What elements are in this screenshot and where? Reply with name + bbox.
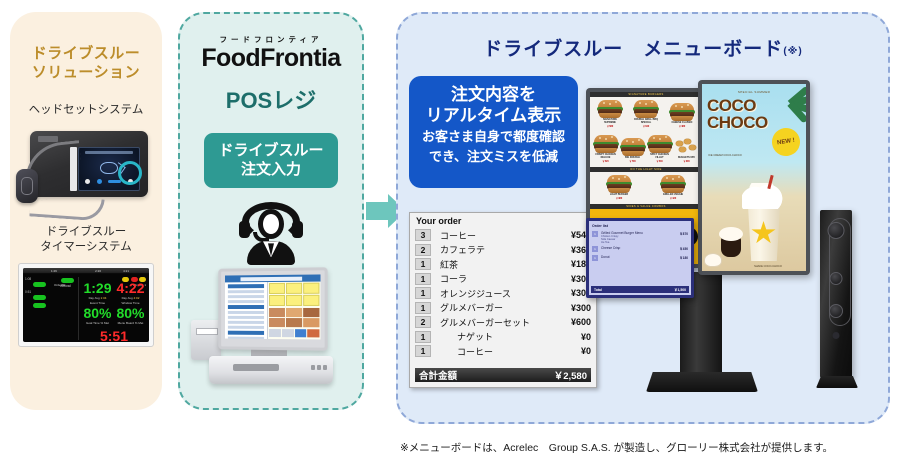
pos-line <box>228 300 264 303</box>
poster-title-line2: CHOCO <box>707 114 768 131</box>
menu-board-title-text: ドライブスルー メニューボード <box>483 39 783 60</box>
speaker-driver-bottom <box>829 304 843 318</box>
pos-food-thumb <box>269 318 285 327</box>
dt-button-line2: 注文入力 <box>204 160 338 179</box>
ice-cream-cup <box>718 227 744 257</box>
pos-line <box>228 295 264 298</box>
burger-icon <box>669 103 695 120</box>
nuggets-icon <box>674 138 698 155</box>
poster-label-right: SHAKE COCO-CHOCO <box>748 265 788 268</box>
pos-line <box>228 331 264 335</box>
headset-system-image <box>16 125 156 213</box>
poster-title-line1: COCO <box>707 97 756 114</box>
burger-icon <box>597 100 623 117</box>
dt-button-line1: ドライブスルー <box>204 141 338 160</box>
screen-dot <box>85 179 90 184</box>
pos-food-thumb <box>269 308 285 317</box>
pos-line <box>228 311 264 314</box>
order-row: 2 グルメバーガーセット ¥600 <box>415 315 591 330</box>
pos-key <box>286 283 302 294</box>
order-screen-content: Order list 1 Grilled Gourmet Burger Menu… <box>589 221 691 295</box>
pos-base-buttons <box>311 365 327 370</box>
screen-dot-active <box>97 179 102 184</box>
order-screen-row: 1 Grilled Gourmet Burger Menu Chicken Cr… <box>592 231 688 244</box>
pos-order-pane <box>225 282 268 339</box>
menu-row-2: CRISPY CHICKEN DELUXE ￥520 BIG DOUBLE ￥7… <box>590 132 702 167</box>
order-qty: 1 <box>415 273 431 285</box>
timer-value: 80% <box>114 306 147 320</box>
menu-item: BIG DOUBLE ￥700 <box>620 138 646 163</box>
pos-card-slot <box>233 364 279 371</box>
pos-action-buttons <box>268 328 320 338</box>
pos-action <box>307 330 319 338</box>
order-screen-title: Order list <box>592 224 688 228</box>
timer-cell: 4:22 Day Avg 4:02 Window Time <box>114 281 147 305</box>
pos-key <box>269 283 285 294</box>
order-screen-name-block: Cheese Crisp <box>598 246 679 250</box>
lane-pill <box>33 295 46 300</box>
timer-caption: Menu Board % Met <box>114 321 147 325</box>
order-screen-total: Total ￥1,500 <box>591 286 689 293</box>
timer-top-stat-left: 1:29 <box>51 269 57 273</box>
ice-cream-whip <box>719 227 743 241</box>
menu-item: GRILLED VEGGIE ￥420 <box>660 175 686 200</box>
order-screen-row: 1 Donut ￥180 <box>592 255 688 261</box>
poster-eyebrow: SPECIAL SUMMER <box>702 90 806 94</box>
order-row: 1 オレンジジュース ¥300 <box>415 286 591 301</box>
timer-arrival-column: Arrival <box>53 277 79 340</box>
timer-cell: 80% Menu Board % Met <box>114 306 147 325</box>
menu-item: DOUBLE GRILL BBQ SPECIAL ￥640 <box>633 100 659 128</box>
diagram-canvas: ドライブスルー ソリューション ヘッドセットシステム <box>0 0 900 474</box>
menu-row-3: LIGHT BURGER ￥380 GRILLED VEGGIE ￥420 <box>590 172 702 204</box>
headset-icon <box>100 162 118 174</box>
pos-menu-keys <box>268 282 320 307</box>
menu-board-footnote: ※メニューボードは、Acrelec Group S.A.S. が製造し、グローリ… <box>400 440 890 455</box>
pos-screen-content <box>225 275 320 340</box>
timer-caption: Goal Time % Met <box>81 321 114 325</box>
order-screen-price: ￥870 <box>679 231 688 236</box>
burger-icon <box>647 135 673 152</box>
pos-register-title: POSレジ <box>180 83 362 115</box>
timer-top-stat-right: 2:20 <box>95 269 101 273</box>
drive-thru-order-entry-button[interactable]: ドライブスルー 注文入力 <box>204 133 338 188</box>
timer-value: 5:51 <box>81 329 147 342</box>
order-screen-name-block: Grilled Gourmet Burger Menu Chicken Cris… <box>598 231 679 244</box>
poster-label-left: ICE CREAM COCO-CHOCO <box>708 154 742 157</box>
order-name: ナゲット <box>431 330 581 343</box>
pos-receipt-printer <box>191 320 221 360</box>
screen-slider <box>108 180 121 183</box>
timer-subtext: Day Avg 1:34 <box>81 296 114 300</box>
your-order-header: Your order <box>410 213 596 228</box>
pos-base-button <box>317 365 321 370</box>
order-name: グルメバーガー <box>431 301 571 314</box>
burger-icon <box>633 100 659 117</box>
menu-board-pedestal-base <box>646 372 758 392</box>
timer-left-column: 1:08 0:51 <box>25 277 51 340</box>
pos-line <box>228 284 264 288</box>
callout-line4: でき、注文ミスを低減 <box>409 149 578 165</box>
order-screen-option: Ice Tea <box>601 241 679 244</box>
realtime-display-callout: 注文内容を リアルタイム表示 お客さま自身で都度確認 でき、注文ミスを低減 <box>409 76 578 188</box>
order-row: 1 コーラ ¥300 <box>415 272 591 287</box>
menu-item: SIGNATURE SUPREME ￥580 <box>597 100 623 128</box>
menu-item-price: ￥420 <box>660 196 686 200</box>
pos-key <box>303 283 319 294</box>
menu-board-screen-right: SPECIAL SUMMER COCO CHOCO NEW ! ICE CREA… <box>698 80 810 275</box>
menu-item-price: ￥640 <box>633 124 659 128</box>
solution-title-line1: ドライブスルー <box>10 45 162 64</box>
speaker-base-foot <box>816 376 858 388</box>
poster-new-badge: NEW ! <box>770 126 802 158</box>
order-row: 1 グルメバーガー ¥300 <box>415 301 591 316</box>
burger-icon <box>660 175 686 192</box>
menu-board-order-screen: Order list 1 Grilled Gourmet Burger Menu… <box>586 218 694 298</box>
order-screen-name-block: Donut <box>598 255 679 259</box>
order-row-suboption: 1 コーヒー ¥0 <box>415 344 591 359</box>
order-qty: 1 <box>415 258 431 270</box>
pos-terminal-image <box>191 268 351 388</box>
timer-arrival-label: Arrival <box>53 284 78 288</box>
menu-board-title-mark: (※) <box>783 46 802 57</box>
speaker-indicator-led <box>833 332 840 339</box>
pos-line <box>228 316 264 319</box>
solution-panel-title: ドライブスルー ソリューション <box>10 12 162 83</box>
speaker-driver-top <box>828 222 845 239</box>
order-qty: 1 <box>415 287 431 299</box>
pos-base-button <box>323 365 327 370</box>
order-name: コーラ <box>431 272 571 285</box>
pos-key <box>286 295 302 306</box>
order-row: 1 紅茶 ¥180 <box>415 257 591 272</box>
pos-food-thumb <box>303 308 319 317</box>
timer-titlebar <box>23 268 149 274</box>
pos-key <box>303 295 319 306</box>
pos-base-button <box>311 365 315 370</box>
menu-item: SPICY CHICKEN FILLET ￥540 <box>647 135 673 163</box>
order-name: カフェラテ <box>431 243 571 256</box>
timer-left-label: 0:51 <box>25 290 51 294</box>
base-station-brand-tag <box>38 136 58 142</box>
timer-label-line1: ドライブスルー <box>10 225 162 240</box>
timer-value: 4:22 <box>114 281 147 295</box>
menu-item: CHEESE CLASSIC ￥480 <box>669 103 695 128</box>
order-qty: 2 <box>415 316 431 328</box>
timer-value: 1:29 <box>81 281 114 295</box>
callout-line3: お客さま自身で都度確認 <box>409 129 578 145</box>
burger-icon <box>620 138 646 155</box>
timer-left-label: 1:08 <box>25 277 51 281</box>
timer-cell: 80% Goal Time % Met <box>81 306 114 325</box>
headset-mic-boom <box>29 195 104 222</box>
drive-thru-speaker-pillar <box>816 210 858 394</box>
burger-icon <box>593 135 619 152</box>
order-screen-row: 1 Cheese Crisp ￥450 <box>592 246 688 252</box>
shake-whipped-cream <box>742 183 786 209</box>
order-name: コーヒー <box>431 229 571 242</box>
order-screen-name: Donut <box>601 255 610 259</box>
panel-menu-board: ドライブスルー メニューボード(※) 注文内容を リアルタイム表示 お客さま自身… <box>396 12 890 424</box>
order-name: グルメバーガーセット <box>431 316 571 329</box>
pos-key <box>269 295 285 306</box>
menu-item-price: ￥480 <box>669 124 695 128</box>
burger-icon <box>606 175 632 192</box>
timer-screen: 1:29 2:20 4:21 Window 1 Order#5 1:08 0:5… <box>23 268 149 342</box>
menu-item: NUGGETS 6PC ￥300 <box>674 138 700 163</box>
operator-earcup-left <box>239 221 250 238</box>
order-row: 3 コーヒー ¥540 <box>415 228 591 243</box>
menu-item: LIGHT BURGER ￥380 <box>606 175 632 200</box>
order-row: 2 カフェラテ ¥360 <box>415 243 591 258</box>
timer-system-image: 1:29 2:20 4:21 Window 1 Order#5 1:08 0:5… <box>18 263 154 347</box>
order-qty: 2 <box>415 244 431 256</box>
pos-food-thumb <box>303 318 319 327</box>
lane-pill <box>33 282 46 287</box>
order-screen-name: Grilled Gourmet Burger Menu <box>601 231 643 235</box>
menu-item-price: ￥700 <box>620 159 646 163</box>
order-qty: 1 <box>415 345 431 357</box>
pos-action <box>295 330 307 338</box>
order-qty: 3 <box>415 229 431 241</box>
operator-avatar-icon <box>239 202 303 264</box>
order-screen-name: Cheese Crisp <box>601 246 620 250</box>
order-total-value: ￥2,580 <box>554 368 587 382</box>
timer-system-label: ドライブスルー タイマーシステム <box>10 225 162 255</box>
order-name: 紅茶 <box>431 258 571 271</box>
order-screen-price: ￥180 <box>679 255 688 260</box>
timer-cell: 5:51 Day Avg 5:22 Total Service Time <box>81 329 147 342</box>
operator-earcup-right <box>292 221 303 238</box>
timer-value: 80% <box>81 306 114 320</box>
pos-line <box>228 321 264 324</box>
your-order-list: 3 コーヒー ¥540 2 カフェラテ ¥360 1 紅茶 ¥180 1 コーラ <box>410 228 596 359</box>
menu-item-price: ￥520 <box>593 159 619 163</box>
speaker-driver-mid <box>830 272 843 285</box>
order-screen-total-label: Total <box>594 288 602 292</box>
timer-cell: 1:29 Day Avg 1:34 Event Time <box>81 281 114 305</box>
menu-item-price: ￥580 <box>597 124 623 128</box>
pos-food-thumbnails <box>268 307 320 328</box>
order-screen-total-value: ￥1,500 <box>674 287 686 292</box>
timer-subtext: Day Avg 4:02 <box>114 296 147 300</box>
pos-line <box>228 305 264 309</box>
menu-item: CRISPY CHICKEN DELUXE ￥520 <box>593 135 619 163</box>
pos-app-titlebar <box>225 275 320 283</box>
pos-line <box>228 326 264 329</box>
timer-label-line2: タイマーシステム <box>10 240 162 255</box>
order-name: オレンジジュース <box>431 287 571 300</box>
menu-row-1: SIGNATURE SUPREME ￥580 DOUBLE GRILL BBQ … <box>590 97 702 132</box>
pos-touchscreen <box>218 268 327 352</box>
order-qty: 1 <box>415 302 431 314</box>
menu-item-price: ￥380 <box>606 196 632 200</box>
headset-system-label: ヘッドセットシステム <box>10 103 162 118</box>
pos-action <box>282 329 294 337</box>
pos-food-thumb <box>286 308 302 317</box>
menu-item-price: ￥540 <box>647 159 673 163</box>
callout-line1: 注文内容を <box>409 85 578 106</box>
order-total-label: 合計金額 <box>419 368 457 382</box>
foodfrontia-logo: FoodFrontia <box>180 46 362 71</box>
panel-pos-register: フードフロンティア FoodFrontia POSレジ ドライブスルー 注文入力 <box>178 12 364 410</box>
pos-food-thumb <box>286 318 302 327</box>
menu-board-title: ドライブスルー メニューボード(※) <box>398 34 888 61</box>
panel-drive-thru-solution: ドライブスルー ソリューション ヘッドセットシステム <box>10 12 162 410</box>
pos-line <box>228 337 264 340</box>
timer-metrics-grid: 1:29 Day Avg 1:34 Event Time 4:22 Day Av… <box>81 277 147 340</box>
order-name: コーヒー <box>431 345 581 358</box>
screen-title-bar <box>85 151 133 154</box>
pos-line <box>228 290 264 293</box>
pos-menu-pane <box>268 282 320 340</box>
lane-pill <box>33 303 46 308</box>
speaker-body <box>820 210 852 378</box>
order-qty: 1 <box>415 331 431 343</box>
solution-title-line2: ソリューション <box>10 64 162 83</box>
menu-item-price: ￥300 <box>674 159 700 163</box>
order-row-suboption: 1 ナゲット ¥0 <box>415 330 591 345</box>
digital-menu-board-stand: SIGNATURE BURGERS SIGNATURE SUPREME ￥580… <box>586 76 836 394</box>
callout-line2: リアルタイム表示 <box>409 106 578 127</box>
timer-top-stat-right2: 4:21 <box>123 269 129 273</box>
coco-choco-poster: SPECIAL SUMMER COCO CHOCO NEW ! ICE CREA… <box>702 84 806 271</box>
pos-action <box>269 329 281 337</box>
your-order-panel: Your order 3 コーヒー ¥540 2 カフェラテ ¥360 1 紅茶… <box>409 212 597 388</box>
order-total-bar: 合計金額 ￥2,580 <box>415 368 591 382</box>
order-screen-price: ￥450 <box>679 246 688 251</box>
